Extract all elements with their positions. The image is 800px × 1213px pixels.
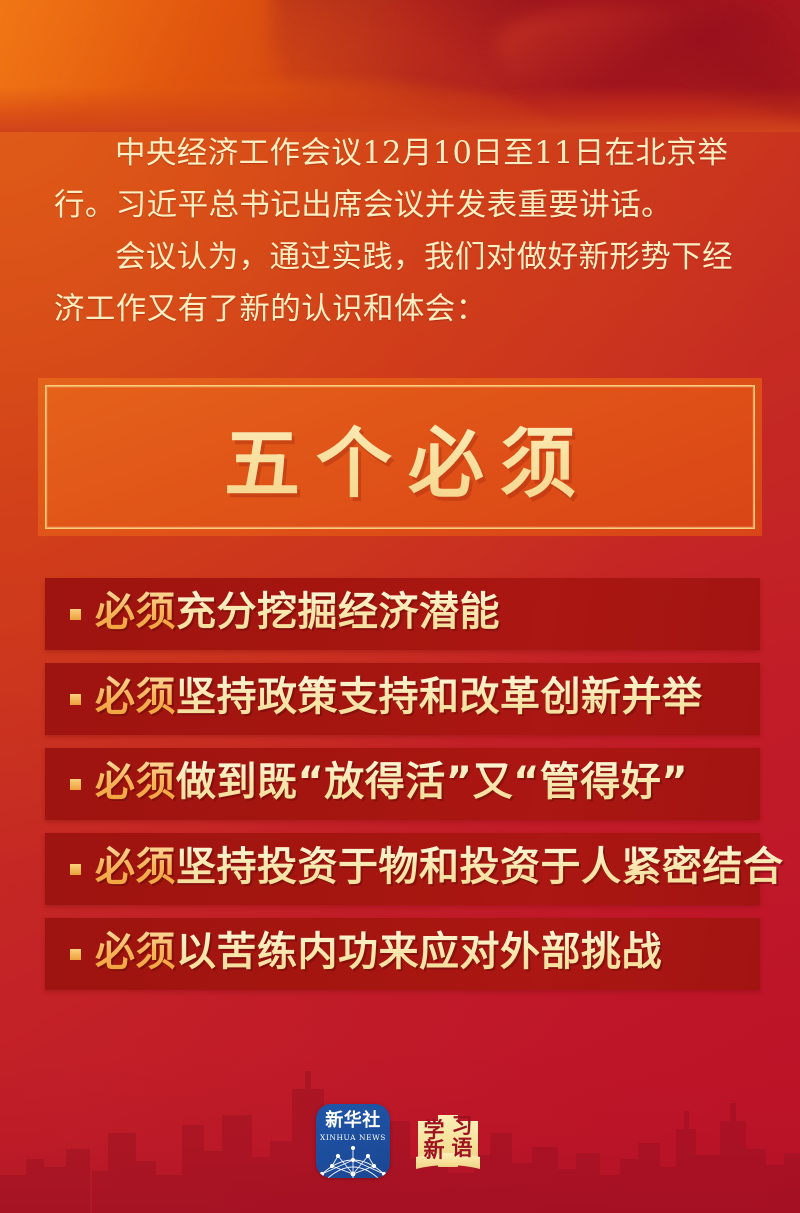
- headline-title: 五个必须: [208, 402, 592, 512]
- point-row: 必须坚持投资于物和投资于人紧密结合: [45, 833, 760, 905]
- xinhua-news-logo: 新华社 XINHUA NEWS: [316, 1104, 390, 1178]
- point-text: 必须充分挖掘经济潜能: [95, 592, 500, 636]
- footer-logo-group: 新华社 XINHUA NEWS: [0, 1104, 800, 1178]
- headline-box-gold-border: 五个必须: [45, 385, 755, 529]
- point-text: 必须以苦练内功来应对外部挑战: [95, 932, 662, 976]
- point-lead: 必须: [95, 759, 176, 805]
- square-bullet-icon: [70, 694, 81, 705]
- headline-box: 五个必须: [38, 378, 762, 536]
- article-paragraph-2: 会议认为，通过实践，我们对做好新形势下经济工作又有了新的认识和体会：: [54, 232, 754, 336]
- article-body: 中央经济工作会议12月10日至11日在北京举行。习近平总书记出席会议并发表重要讲…: [54, 128, 754, 336]
- square-bullet-icon: [70, 609, 81, 620]
- network-globe-icon: [316, 1144, 390, 1178]
- point-rest: 坚持政策支持和改革创新并举: [176, 674, 703, 720]
- point-text: 必须坚持政策支持和改革创新并举: [95, 677, 703, 721]
- point-text: 必须坚持投资于物和投资于人紧密结合: [95, 847, 784, 891]
- svg-text:新: 新: [424, 1137, 445, 1162]
- open-book-icon: 学 习 新 语: [412, 1105, 484, 1177]
- point-lead: 必须: [95, 929, 176, 975]
- xuexi-xinyu-logo: 学 习 新 语: [412, 1105, 484, 1177]
- point-rest: 坚持投资于物和投资于人紧密结合: [176, 844, 784, 890]
- point-row: 必须做到既“放得活”又“管得好”: [45, 748, 760, 820]
- svg-text:语: 语: [452, 1135, 473, 1160]
- xinhua-logo-cn-text: 新华社: [325, 1112, 381, 1131]
- points-list: 必须充分挖掘经济潜能 必须坚持政策支持和改革创新并举 必须做到既“放得活”又“管…: [45, 578, 760, 1003]
- square-bullet-icon: [70, 779, 81, 790]
- point-text: 必须做到既“放得活”又“管得好”: [95, 762, 688, 806]
- point-lead: 必须: [95, 844, 176, 890]
- point-row: 必须以苦练内功来应对外部挑战: [45, 918, 760, 990]
- silk-bottom-fade: [0, 87, 800, 132]
- poster-canvas: 中央经济工作会议12月10日至11日在北京举行。习近平总书记出席会议并发表重要讲…: [0, 0, 800, 1213]
- silk-fabric-banner: [0, 0, 800, 132]
- point-rest: 充分挖掘经济潜能: [176, 589, 500, 635]
- point-row: 必须充分挖掘经济潜能: [45, 578, 760, 650]
- square-bullet-icon: [70, 864, 81, 875]
- point-lead: 必须: [95, 589, 176, 635]
- square-bullet-icon: [70, 949, 81, 960]
- point-rest: 做到既“放得活”又“管得好”: [176, 759, 688, 805]
- point-rest: 以苦练内功来应对外部挑战: [176, 929, 662, 975]
- article-paragraph-1: 中央经济工作会议12月10日至11日在北京举行。习近平总书记出席会议并发表重要讲…: [54, 128, 754, 232]
- point-lead: 必须: [95, 674, 176, 720]
- point-row: 必须坚持政策支持和改革创新并举: [45, 663, 760, 735]
- xinhua-logo-en-text: XINHUA NEWS: [320, 1133, 386, 1142]
